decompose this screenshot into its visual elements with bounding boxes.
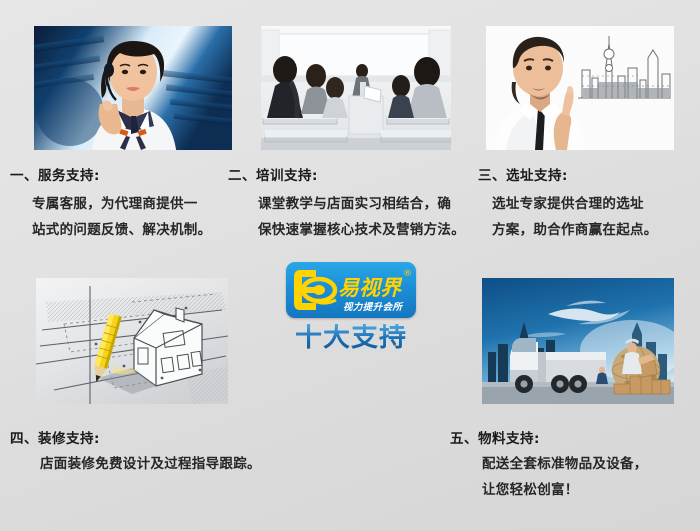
support-line-5-2: 让您轻松创富！ bbox=[482, 478, 579, 498]
logo-box: 易视界 视力提升会所 ® 易视界 视力提升会所 ® bbox=[286, 262, 416, 318]
logistics-delivery-photo bbox=[482, 278, 674, 404]
support-line-3-1: 选址专家提供合理的选址 bbox=[492, 192, 644, 212]
photo-frame bbox=[34, 26, 232, 150]
svg-text:易视界: 易视界 bbox=[338, 276, 403, 300]
photo-frame bbox=[486, 26, 674, 150]
support-heading-5: 五、物料支持: bbox=[450, 427, 540, 447]
site-selection-photo bbox=[486, 26, 674, 150]
slogan-text: 十大支持 bbox=[286, 324, 416, 351]
support-line-5-1: 配送全套标准物品及设备， bbox=[482, 452, 648, 472]
support-heading-1: 一、服务支持: bbox=[10, 164, 100, 184]
support-line-2-1: 课堂教学与店面实习相结合，确 bbox=[258, 192, 451, 212]
support-line-4-1: 店面装修免费设计及过程指导跟踪。 bbox=[40, 452, 261, 472]
store-design-blueprint-photo bbox=[36, 278, 228, 404]
support-line-1-2: 站式的问题反馈、解决机制。 bbox=[32, 218, 211, 238]
support-line-3-2: 方案，助合作商赢在起点。 bbox=[492, 218, 658, 238]
svg-text:®: ® bbox=[403, 269, 412, 279]
logo-artwork: 易视界 视力提升会所 ® bbox=[286, 262, 416, 318]
support-heading-4: 四、装修支持: bbox=[10, 427, 100, 447]
photo-frame bbox=[482, 278, 674, 404]
support-line-1-1: 专属客服，为代理商提供一 bbox=[32, 192, 198, 212]
support-line-2-2: 保快速掌握核心技术及营销方法。 bbox=[258, 218, 465, 238]
photo-frame bbox=[36, 278, 228, 404]
svg-text:视力提升会所: 视力提升会所 bbox=[343, 301, 405, 313]
promo-poster: 易视界 视力提升会所 ® 易视界 视力提升会所 ® 十大支持 一、服务支持: 专… bbox=[0, 0, 700, 531]
customer-service-photo bbox=[34, 26, 232, 150]
eye-e-mark bbox=[294, 270, 336, 310]
support-heading-2: 二、培训支持: bbox=[228, 164, 318, 184]
support-heading-3: 三、选址支持: bbox=[478, 164, 568, 184]
brand-logo-block: 易视界 视力提升会所 ® 易视界 视力提升会所 ® 十大支持 bbox=[286, 262, 416, 351]
training-classroom-photo bbox=[261, 26, 451, 150]
photo-frame bbox=[261, 26, 451, 150]
